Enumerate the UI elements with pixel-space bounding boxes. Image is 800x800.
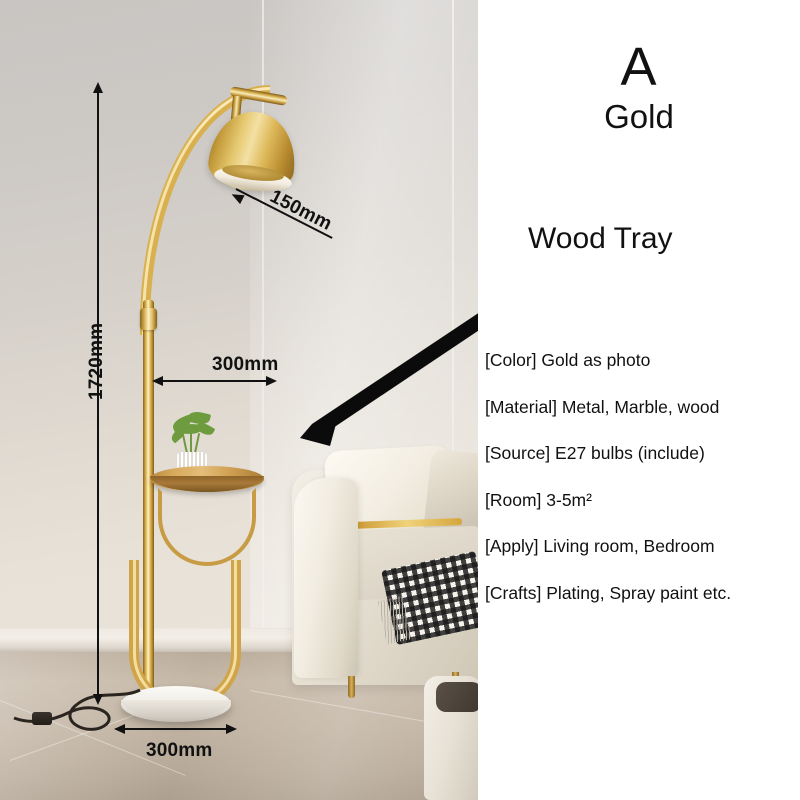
spec-material: [Material] Metal, Marble, wood bbox=[485, 399, 800, 417]
height-dimension-label: 1720mm bbox=[86, 323, 108, 400]
variant-color-label: Gold bbox=[478, 98, 800, 136]
height-arrow-bottom bbox=[93, 694, 103, 705]
height-arrow-top bbox=[93, 82, 103, 93]
spec-crafts: [Crafts] Plating, Spray paint etc. bbox=[485, 585, 800, 603]
spec-source: [Source] E27 bulbs (include) bbox=[485, 445, 800, 463]
product-photo: 1720mm 150mm 300mm 300mm bbox=[0, 0, 478, 800]
arm-reach-arrow-right bbox=[266, 376, 277, 386]
base-width-dimension-label: 300mm bbox=[146, 740, 213, 762]
spec-apply: [Apply] Living room, Bedroom bbox=[485, 538, 800, 556]
sofa-arm bbox=[294, 478, 358, 678]
arm-reach-arrow-left bbox=[152, 376, 163, 386]
arm-reach-dimension-label: 300mm bbox=[212, 354, 279, 376]
variant-letter: A bbox=[478, 36, 800, 98]
sofa-leg bbox=[348, 676, 355, 698]
spec-color: [Color] Gold as photo bbox=[485, 352, 800, 370]
spec-room: [Room] 3-5m² bbox=[485, 492, 800, 510]
base-width-arrow-left bbox=[114, 724, 125, 734]
power-plug bbox=[32, 712, 52, 725]
base-width-dimension-line bbox=[124, 728, 228, 730]
arm-reach-dimension-line bbox=[162, 380, 268, 382]
wood-tray-callout-label: Wood Tray bbox=[528, 222, 673, 256]
product-spec-image: 1720mm 150mm 300mm 300mm A Gold Wood Tra… bbox=[0, 0, 800, 800]
side-cabinet-top bbox=[436, 682, 478, 712]
specification-list: [Color] Gold as photo [Material] Metal, … bbox=[485, 352, 800, 631]
info-panel: A Gold Wood Tray [Color] Gold as photo [… bbox=[478, 0, 800, 800]
base-width-arrow-right bbox=[226, 724, 237, 734]
